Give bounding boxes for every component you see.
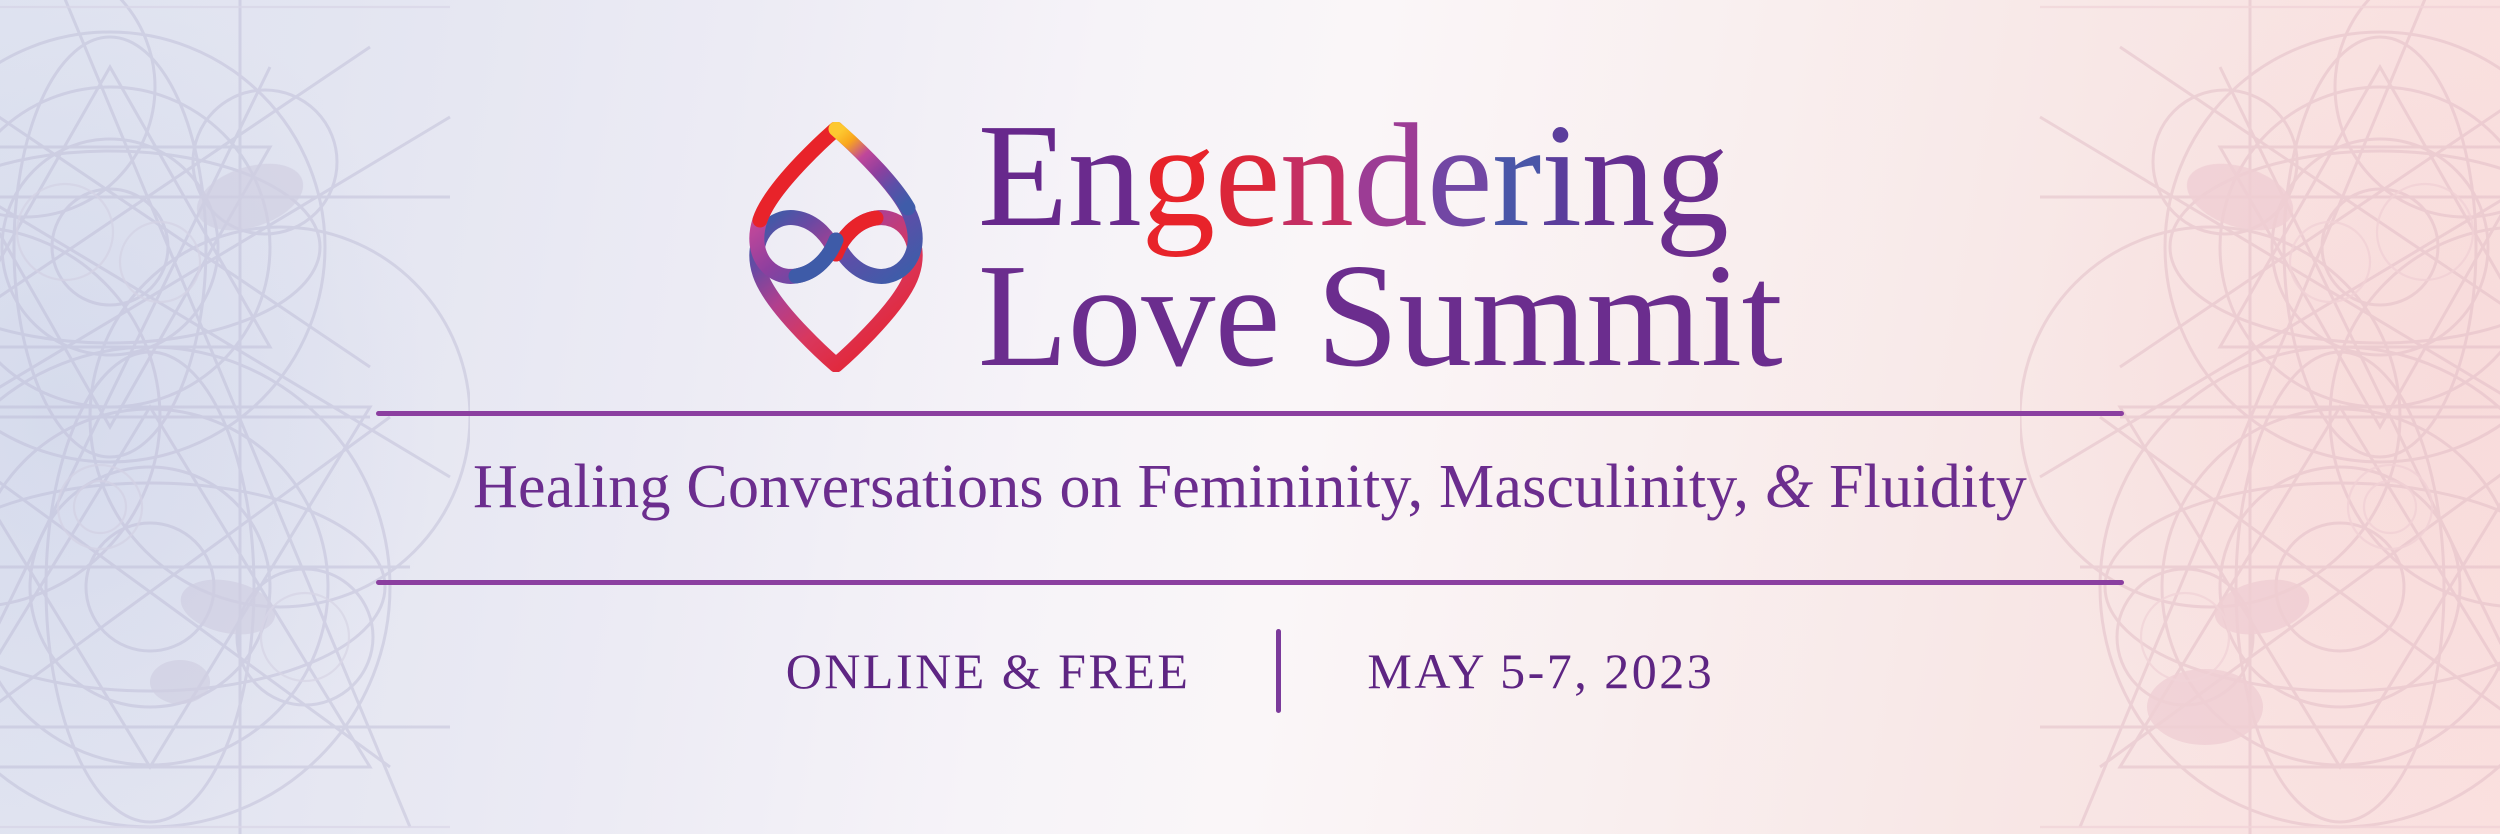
summit-promo-banner: Engendering Love Summit Healing Conversa… [0,0,2500,834]
meta-separator [1276,629,1281,713]
cost-label: ONLINE & FREE [786,642,1191,700]
summit-title-line-1: Engendering [978,108,1782,246]
ampersand-glyph: & [1765,453,1813,521]
event-meta-row: ONLINE & FREE MAY 5-7, 2023 [786,629,1715,713]
wordmark: Engendering Love Summit [978,108,1782,385]
summit-title-line-2: Love Summit [978,248,1782,386]
tagline-text-before-amp: Healing Conversations on Femininity, Mas… [473,453,1765,521]
summit-tagline: Healing Conversations on Femininity, Mas… [473,452,2027,523]
date-label: MAY 5-7, 2023 [1367,642,1714,700]
brand-lockup: Engendering Love Summit [736,108,1782,385]
banner-content: Engendering Love Summit Healing Conversa… [0,0,2500,834]
tagline-text-after-amp: Fluidity [1813,453,2027,521]
interlocking-hearts-infinity-icon [736,122,936,372]
divider-rule-top [376,411,2124,416]
divider-rule-bottom [376,580,2124,585]
